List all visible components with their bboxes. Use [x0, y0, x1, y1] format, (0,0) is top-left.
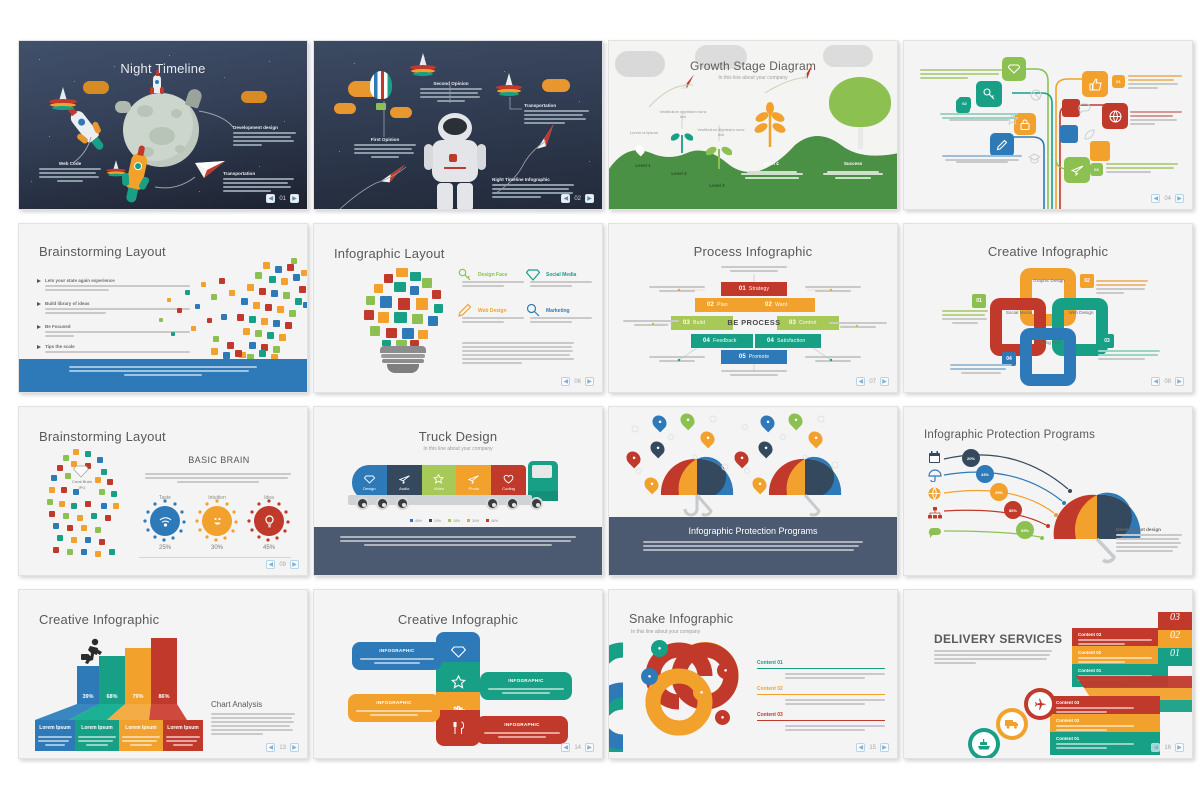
prev-page-icon[interactable]: ◀: [1151, 743, 1160, 752]
businessman-icon: [79, 638, 107, 668]
thumbs-up-icon[interactable]: [1082, 71, 1108, 97]
slide-thumbnail-grid: Night Timeline: [0, 0, 1200, 800]
num-01: 01: [1170, 648, 1180, 659]
legend-item: 46%: [410, 519, 422, 523]
band-body: [631, 541, 875, 551]
ribbon-heading: Content 03: [1078, 632, 1162, 637]
chain-link-coding-web[interactable]: [1020, 328, 1076, 386]
ribbon-body: [1056, 743, 1154, 749]
tag-03: 03: [1090, 163, 1103, 176]
truck-wheel: [376, 497, 389, 510]
paper-plane-icon: [399, 475, 410, 484]
callout-second-opinion: Second Opinion: [420, 81, 482, 102]
item-marketing: Marketing: [530, 308, 592, 325]
meter-dots-taste: [143, 499, 187, 543]
card-body: [78, 736, 116, 746]
cutlery-icon: [452, 721, 465, 735]
callout-heading: First Opinion: [354, 137, 416, 142]
content-heading: Content 01: [757, 660, 885, 668]
chain-tag-03: 03: [1100, 334, 1114, 348]
slide-thumbnail-protection-umbrellas[interactable]: ● ● ● ● ● ● ● ● ● ● ● ● In: [608, 406, 898, 576]
callout-heading: Development design: [233, 125, 299, 130]
callout-body: [233, 132, 299, 146]
page-title: Brainstorming Layout: [39, 429, 166, 444]
slide-thumbnail-creative-chain[interactable]: Creative Infographic Graphic Design Soci…: [903, 223, 1193, 393]
callout-development-design: Development design: [233, 125, 299, 148]
prev-page-icon[interactable]: ◀: [266, 743, 275, 752]
callout-heading: Development design: [1116, 527, 1182, 532]
step-value-2: 68%: [99, 694, 125, 700]
paper-plane-icon: [468, 475, 479, 484]
page-title: Infographic Layout: [334, 246, 445, 261]
slide-page-nav[interactable]: ◀ 01 ▶: [266, 194, 299, 203]
slide-thumbnail-night-timeline[interactable]: Night Timeline: [18, 40, 308, 210]
slide-thumbnail-process-infographic[interactable]: Process Infographic 01 Strategy 02 Plan …: [608, 223, 898, 393]
footer-text: [59, 366, 267, 376]
item-heading: Web Design: [478, 308, 524, 314]
content-body: [757, 669, 885, 679]
globe-icon: [928, 487, 941, 500]
page-title: Brainstorming Layout: [39, 244, 166, 259]
step-card-2[interactable]: Lorem Ipsum: [75, 720, 119, 751]
pencil-icon[interactable]: [990, 133, 1014, 157]
callout-body: [354, 144, 416, 158]
callout-transportation: Transportation: [524, 103, 590, 126]
footer-text: [340, 536, 576, 546]
content-heading: Content 03: [757, 712, 885, 720]
callout-heading: Second Opinion: [420, 81, 482, 86]
stage-label-1: Level 1: [621, 163, 665, 168]
truck-wheel: [530, 497, 543, 510]
lower-ribbon-01[interactable]: Content 01: [1050, 732, 1160, 755]
item-body: [530, 281, 592, 287]
stage-body-4: [741, 171, 803, 179]
item-body: [462, 317, 524, 323]
stage-note-2: Vestibulum dignissim nunc nisl: [657, 109, 709, 119]
slide-thumbnail-creative-steps[interactable]: Creative Infographic 39% 68% 79% 86%: [18, 589, 308, 759]
next-page-icon[interactable]: ▶: [585, 743, 594, 752]
footer-band: Infographic Protection Programs: [609, 517, 897, 575]
step-card-3[interactable]: Lorem Ipsum: [119, 720, 163, 751]
card-heading: Lorem Ipsum: [166, 725, 200, 733]
chain-label-social-media: Social Media: [1002, 310, 1036, 317]
tag-01: 01: [1112, 75, 1125, 88]
snake-node-4[interactable]: ●: [717, 662, 734, 679]
segment-label: Video: [434, 486, 444, 491]
truck-wheel: [506, 497, 519, 510]
snake-node-5[interactable]: ●: [715, 710, 730, 725]
bulb-icon-cluster: [356, 266, 450, 346]
callout-heading: Transportation: [524, 103, 590, 108]
item-social-media: Social Media: [530, 272, 592, 289]
ship-icon: [977, 739, 991, 750]
tag-02: 02: [958, 97, 971, 110]
callout-web-code: Web Code: [39, 161, 101, 182]
item-web-design: Web Design: [462, 308, 524, 325]
page-number: 08: [1163, 379, 1172, 385]
bar-body: [488, 688, 564, 694]
heart-icon: [503, 474, 514, 484]
legend-item: 18%: [448, 519, 460, 523]
step-riser-1[interactable]: [77, 666, 99, 706]
analysis-body: [211, 713, 295, 735]
magnifier-icon: [526, 303, 540, 317]
slide-thumbnail-icon-tree[interactable]: 02 01 03 ◀ 04 ▶: [903, 40, 1193, 210]
arc-value-5[interactable]: 65%: [1016, 521, 1034, 539]
callout-right-2: [1130, 111, 1182, 127]
chain-body-01: [942, 310, 988, 324]
diamond-icon: [451, 646, 466, 658]
stage-label-2: Level 2: [657, 171, 701, 176]
callout-body: [39, 168, 101, 182]
stage-body-success: [823, 171, 883, 179]
arrow-bar-4[interactable]: INFOGRAPHIC: [476, 716, 568, 744]
slide-page-nav[interactable]: ◀ 08 ▶: [1151, 377, 1184, 386]
meter-value-intuition: 30%: [195, 545, 239, 551]
paragraph-text: [462, 342, 574, 364]
page-number: 07: [868, 379, 877, 385]
ribbon-heading: Content 01: [1056, 736, 1154, 741]
ribbon-heading: Content 02: [1056, 718, 1154, 723]
next-page-icon[interactable]: ▶: [585, 377, 594, 386]
page-subtitle: In this line about your company: [314, 446, 602, 452]
meter-dots-intuition: [195, 499, 239, 543]
chain-tag-01: 01: [972, 294, 986, 308]
item-heading: Design Face: [478, 272, 524, 278]
arrow-bar-1[interactable]: INFOGRAPHIC: [352, 642, 442, 670]
arc-value-3[interactable]: 25%: [990, 483, 1008, 501]
card-body: [166, 736, 200, 746]
slide-page-nav[interactable]: ◀ 09 ▶: [266, 560, 299, 569]
slide-thumbnail-delivery-services[interactable]: DELIVERY SERVICES Content 03 Content 02 …: [903, 589, 1193, 759]
next-page-icon[interactable]: ▶: [290, 743, 299, 752]
bulb-base: [380, 346, 426, 374]
prev-page-icon[interactable]: ◀: [856, 743, 865, 752]
segment-label: Design: [363, 486, 375, 491]
content-row-01: Content 01: [757, 660, 885, 681]
ban-icon: [1030, 89, 1042, 101]
card-heading: Lorem Ipsum: [122, 725, 160, 733]
chain-body-03: [1098, 350, 1160, 362]
head-label: Creat Brain IPG: [71, 479, 93, 492]
ribbon-body: [1056, 707, 1154, 713]
bar-heading: INFOGRAPHIC: [488, 678, 564, 685]
arrow-bar-2[interactable]: INFOGRAPHIC: [480, 672, 572, 700]
next-page-icon[interactable]: ▶: [1175, 743, 1184, 752]
step-value-3: 79%: [125, 694, 151, 700]
num-02: 02: [1170, 630, 1180, 641]
chart-analysis-block: Chart Analysis: [211, 700, 295, 737]
page-number: 09: [278, 562, 287, 568]
umbrella-icon: [928, 469, 942, 482]
truck-wheel: [486, 497, 499, 510]
page-subtitle: In this line about your company: [631, 629, 700, 635]
callout-left-1: [920, 69, 1002, 81]
step-card-1[interactable]: Lorem Ipsum: [35, 720, 75, 751]
slide-thumbnail-protection-arcs[interactable]: Infographic Protection Programs 20% 44% …: [903, 406, 1193, 576]
chain-label-coding-web: Coding Web: [1032, 340, 1066, 347]
truck-icon: [1005, 719, 1019, 729]
callout-right-3: [1106, 163, 1178, 175]
callout-heading: Web Code: [39, 161, 101, 166]
callout-left-3: [942, 155, 1022, 163]
callout-first-opinion: First Opinion: [354, 137, 416, 158]
meter-value-idea: 45%: [247, 545, 291, 551]
diamond-icon: [526, 269, 540, 281]
callout-transportation: Transportation: [223, 171, 295, 194]
page-title: Creative Infographic: [39, 612, 159, 627]
prev-page-icon[interactable]: ◀: [856, 377, 865, 386]
footer-band: [19, 359, 307, 392]
truck-legend: 46% 24% 18% 34% 46%: [410, 519, 498, 523]
callout-left-2: [940, 113, 1018, 121]
slide-page-nav[interactable]: ◀ 06 ▶: [561, 377, 594, 386]
chain-tag-02: 02: [1080, 274, 1094, 288]
segment-label: Photo: [469, 486, 479, 491]
slide-thumbnail-snake-infographic[interactable]: Snake Infographic In this line about you…: [608, 589, 898, 759]
graduation-cap-icon: [1028, 153, 1041, 164]
page-title: Creative Infographic: [904, 244, 1192, 259]
bar-body: [484, 732, 560, 738]
callout-body: [524, 110, 590, 124]
legend-item: 46%: [486, 519, 498, 523]
slide-page-nav[interactable]: ◀ 13 ▶: [266, 743, 299, 752]
icon-chip-blue[interactable]: [1060, 125, 1078, 143]
prev-page-icon[interactable]: ◀: [1151, 377, 1160, 386]
callout-body: [223, 178, 295, 192]
meter-value-taste: 25%: [143, 545, 187, 551]
next-page-icon[interactable]: ▶: [585, 194, 594, 203]
arrow-bar-3[interactable]: INFOGRAPHIC: [348, 694, 440, 722]
page-title: Creative Infographic: [314, 612, 602, 627]
callout-development-design: Development design: [1116, 527, 1182, 554]
card-body: [38, 736, 72, 746]
item-body: [530, 317, 592, 323]
arc-value-4[interactable]: 86%: [1004, 501, 1022, 519]
connector-lines: [609, 224, 897, 392]
bar-body: [356, 710, 432, 716]
ribbon-heading: Content 02: [1078, 650, 1162, 655]
bar-heading: INFOGRAPHIC: [484, 722, 560, 729]
prev-page-icon[interactable]: ◀: [561, 743, 570, 752]
step-value-4: 86%: [151, 694, 177, 700]
prev-page-icon[interactable]: ◀: [561, 377, 570, 386]
truck-wheel: [396, 497, 409, 510]
bar-body: [360, 658, 434, 664]
item-heading: Marketing: [546, 308, 592, 314]
transport-circle-truck[interactable]: [996, 708, 1028, 740]
section-paragraph: [145, 473, 291, 483]
page-number: 02: [573, 196, 582, 202]
paper-plane-icon[interactable]: [1064, 157, 1090, 183]
diamond-icon: [73, 465, 89, 478]
center-cell-4[interactable]: [436, 710, 480, 746]
arc-value-1[interactable]: 20%: [962, 449, 980, 467]
prev-page-icon[interactable]: ◀: [266, 194, 275, 203]
star-icon: [433, 474, 444, 484]
chat-bubble-icon: [928, 527, 942, 539]
pencil-icon: [458, 303, 472, 317]
analysis-title: Chart Analysis: [211, 700, 295, 709]
page-number: 13: [278, 745, 287, 751]
segment-label: Audio: [399, 486, 409, 491]
prev-page-icon[interactable]: ◀: [1151, 194, 1160, 203]
rain-decoration: [609, 407, 897, 519]
bar-heading: INFOGRAPHIC: [356, 700, 432, 707]
footer-band: [314, 527, 602, 575]
next-page-icon[interactable]: ▶: [1175, 194, 1184, 203]
content-row-02: Content 02: [757, 686, 885, 707]
page-number: 14: [573, 745, 582, 751]
chat-bubble-icon: [1078, 103, 1091, 114]
page-title: Snake Infographic: [629, 612, 733, 626]
paragraph-block: [934, 650, 1052, 666]
card-heading: Lorem Ipsum: [78, 725, 116, 733]
callout-heading: Night Timeline Infographic: [492, 177, 576, 182]
chain-label-web-design: Web Design: [1064, 310, 1098, 317]
content-body: [757, 695, 885, 705]
chain-label-graphic-design: Graphic Design: [1032, 278, 1066, 285]
slide-page-nav[interactable]: ◀ 02 ▶: [561, 194, 594, 203]
step-card-4[interactable]: Lorem Ipsum: [163, 720, 203, 751]
calendar-icon: [928, 451, 941, 464]
prev-page-icon[interactable]: ◀: [266, 560, 275, 569]
chain-body-04: [950, 364, 1012, 374]
paragraph-text: [934, 650, 1052, 664]
callout-heading: Transportation: [223, 171, 295, 176]
content-row-03: Content 03: [757, 712, 885, 733]
page-number: 01: [278, 196, 287, 202]
stage-note-1: Lorem la lipsum: [619, 130, 669, 135]
transport-circle-plane[interactable]: [1024, 688, 1056, 720]
callout-right-1: [1128, 75, 1182, 91]
icon-head-illustration: [151, 256, 307, 356]
snake-node-1[interactable]: ●: [651, 640, 668, 657]
truck-cab: [528, 461, 562, 501]
stage-label-4: Level 4: [745, 161, 797, 166]
slide-thumbnail-creative-arrows[interactable]: Creative Infographic INFOGRAPHIC INFOGRA…: [313, 589, 603, 759]
content-heading: Content 02: [757, 686, 885, 694]
snake-loops: [609, 640, 751, 752]
ribbon-body: [1078, 639, 1162, 645]
page-title: Truck Design: [314, 429, 602, 444]
icon-chip-orange[interactable]: [1090, 141, 1110, 161]
arc-value-2[interactable]: 44%: [976, 465, 994, 483]
leaf-icon: [1084, 129, 1095, 140]
slide-page-nav[interactable]: ◀ 16 ▶: [1151, 743, 1184, 752]
ribbon-heading: Content 03: [1056, 700, 1154, 705]
transport-circle-ship[interactable]: [968, 728, 1000, 758]
next-page-icon[interactable]: ▶: [290, 560, 299, 569]
hierarchy-icon: [928, 507, 942, 520]
slide-thumbnail-basic-brain[interactable]: Brainstorming Layout: [18, 406, 308, 576]
stage-note-3: Vestibulum dignissim nunc nisl: [695, 127, 747, 137]
prev-page-icon[interactable]: ◀: [561, 194, 570, 203]
ribbon-body: [1056, 725, 1154, 731]
ribbon-heading: Content 01: [1078, 668, 1162, 673]
snake-node-2[interactable]: ●: [641, 668, 658, 685]
item-design-face: Design Face: [462, 272, 524, 289]
page-number: 15: [868, 745, 877, 751]
slide-page-nav[interactable]: ◀ 14 ▶: [561, 743, 594, 752]
slide-thumbnail-growth-stage[interactable]: Growth Stage Diagram In this line about …: [608, 40, 898, 210]
baseline-divider: [139, 557, 291, 558]
plane-icon: [1034, 698, 1047, 711]
key-icon[interactable]: [976, 81, 1002, 107]
slide-thumbnail-truck-design[interactable]: Truck Design In this line about your com…: [313, 406, 603, 576]
page-title: DELIVERY SERVICES: [934, 632, 1062, 646]
step-value-1: 39%: [77, 694, 99, 700]
next-page-icon[interactable]: ▶: [880, 743, 889, 752]
connector-lines: [609, 41, 897, 209]
ribbon-body: [1078, 657, 1162, 663]
legend-item: 34%: [467, 519, 479, 523]
globe-icon[interactable]: [1102, 103, 1128, 129]
card-body: [122, 736, 160, 746]
legend-item: 24%: [429, 519, 441, 523]
next-page-icon[interactable]: ▶: [1175, 377, 1184, 386]
slide-page-nav[interactable]: ◀ 07 ▶: [856, 377, 889, 386]
slide-thumbnail-brainstorming-layout[interactable]: Brainstorming Layout Lets your state aga…: [18, 223, 308, 393]
next-page-icon[interactable]: ▶: [880, 377, 889, 386]
key-icon: [458, 268, 472, 282]
callout-body: [1116, 534, 1182, 552]
page-number: 04: [1163, 196, 1172, 202]
segment-label: Coding: [502, 486, 515, 491]
paragraph-block: [462, 342, 574, 366]
stage-label-3: Level 3: [695, 183, 739, 188]
snake-node-3[interactable]: ●: [693, 684, 710, 701]
num-03: 03: [1170, 612, 1180, 623]
slide-thumbnail-infographic-layout[interactable]: Infographic Layout: [313, 223, 603, 393]
content-body: [757, 721, 885, 731]
card-heading: Lorem Ipsum: [38, 725, 72, 733]
diamond-icon[interactable]: [1002, 57, 1026, 81]
page-number: 06: [573, 379, 582, 385]
diamond-icon: [364, 475, 375, 484]
section-title: BASIC BRAIN: [145, 455, 293, 465]
band-title: Infographic Protection Programs: [631, 526, 875, 536]
truck-wheel: [356, 497, 369, 510]
callout-body: [420, 88, 482, 102]
chain-body-02: [1096, 280, 1148, 296]
stage-label-success: Success: [827, 161, 879, 166]
meter-dots-idea: [247, 499, 291, 543]
slide-page-nav[interactable]: ◀ 15 ▶: [856, 743, 889, 752]
page-number: 16: [1163, 745, 1172, 751]
bar-heading: INFOGRAPHIC: [360, 648, 434, 655]
item-heading: Social Media: [546, 272, 592, 278]
star-icon: [451, 675, 466, 689]
next-page-icon[interactable]: ▶: [290, 194, 299, 203]
slide-page-nav[interactable]: ◀ 04 ▶: [1151, 194, 1184, 203]
slide-thumbnail-second-opinion[interactable]: Second Opinion First Opinion Transportat…: [313, 40, 603, 210]
